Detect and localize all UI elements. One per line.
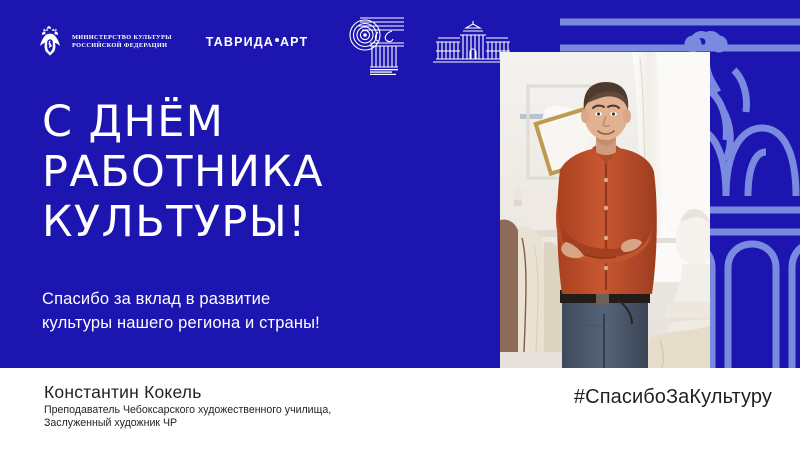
person-name: Константин Кокель (44, 382, 202, 403)
ministry-logo-line2: РОССИЙСКОЙ ФЕДЕРАЦИИ (72, 42, 172, 50)
logo-strip: МИНИСТЕРСТВО КУЛЬТУРЫ РОССИЙСКОЙ ФЕДЕРАЦ… (36, 14, 516, 70)
blue-background: МИНИСТЕРСТВО КУЛЬТУРЫ РОССИЙСКОЙ ФЕДЕРАЦ… (0, 0, 800, 368)
ministry-logo-line1: МИНИСТЕРСТВО КУЛЬТУРЫ (72, 34, 172, 42)
art-word: АРТ (280, 35, 308, 49)
person-role: Преподаватель Чебоксарского художественн… (44, 404, 331, 430)
ionic-column-capital-icon (348, 9, 404, 75)
campaign-hashtag: #СпасибоЗаКультуру (574, 386, 772, 409)
double-headed-eagle-icon (36, 26, 64, 58)
page-title: С ДНЁМ РАБОТНИКА КУЛЬТУРЫ! (42, 97, 324, 247)
logo-ministry-of-culture: МИНИСТЕРСТВО КУЛЬТУРЫ РОССИЙСКОЙ ФЕДЕРАЦ… (36, 26, 172, 58)
tavrida-word: ТАВРИДА (206, 35, 274, 49)
subtitle-text: Спасибо за вклад в развитие культуры наш… (42, 287, 320, 335)
logo-tavrida-art: ТАВРИДА АРТ (206, 35, 309, 49)
credit-bar: Константин Кокель Преподаватель Чебоксар… (0, 368, 800, 450)
ministry-logo-text: МИНИСТЕРСТВО КУЛЬТУРЫ РОССИЙСКОЙ ФЕДЕРАЦ… (72, 34, 172, 50)
portrait-photo (500, 52, 710, 368)
poster-canvas: МИНИСТЕРСТВО КУЛЬТУРЫ РОССИЙСКОЙ ФЕДЕРАЦ… (0, 0, 800, 450)
logo-national-project (348, 9, 404, 75)
tavrida-dot-icon (275, 38, 279, 42)
